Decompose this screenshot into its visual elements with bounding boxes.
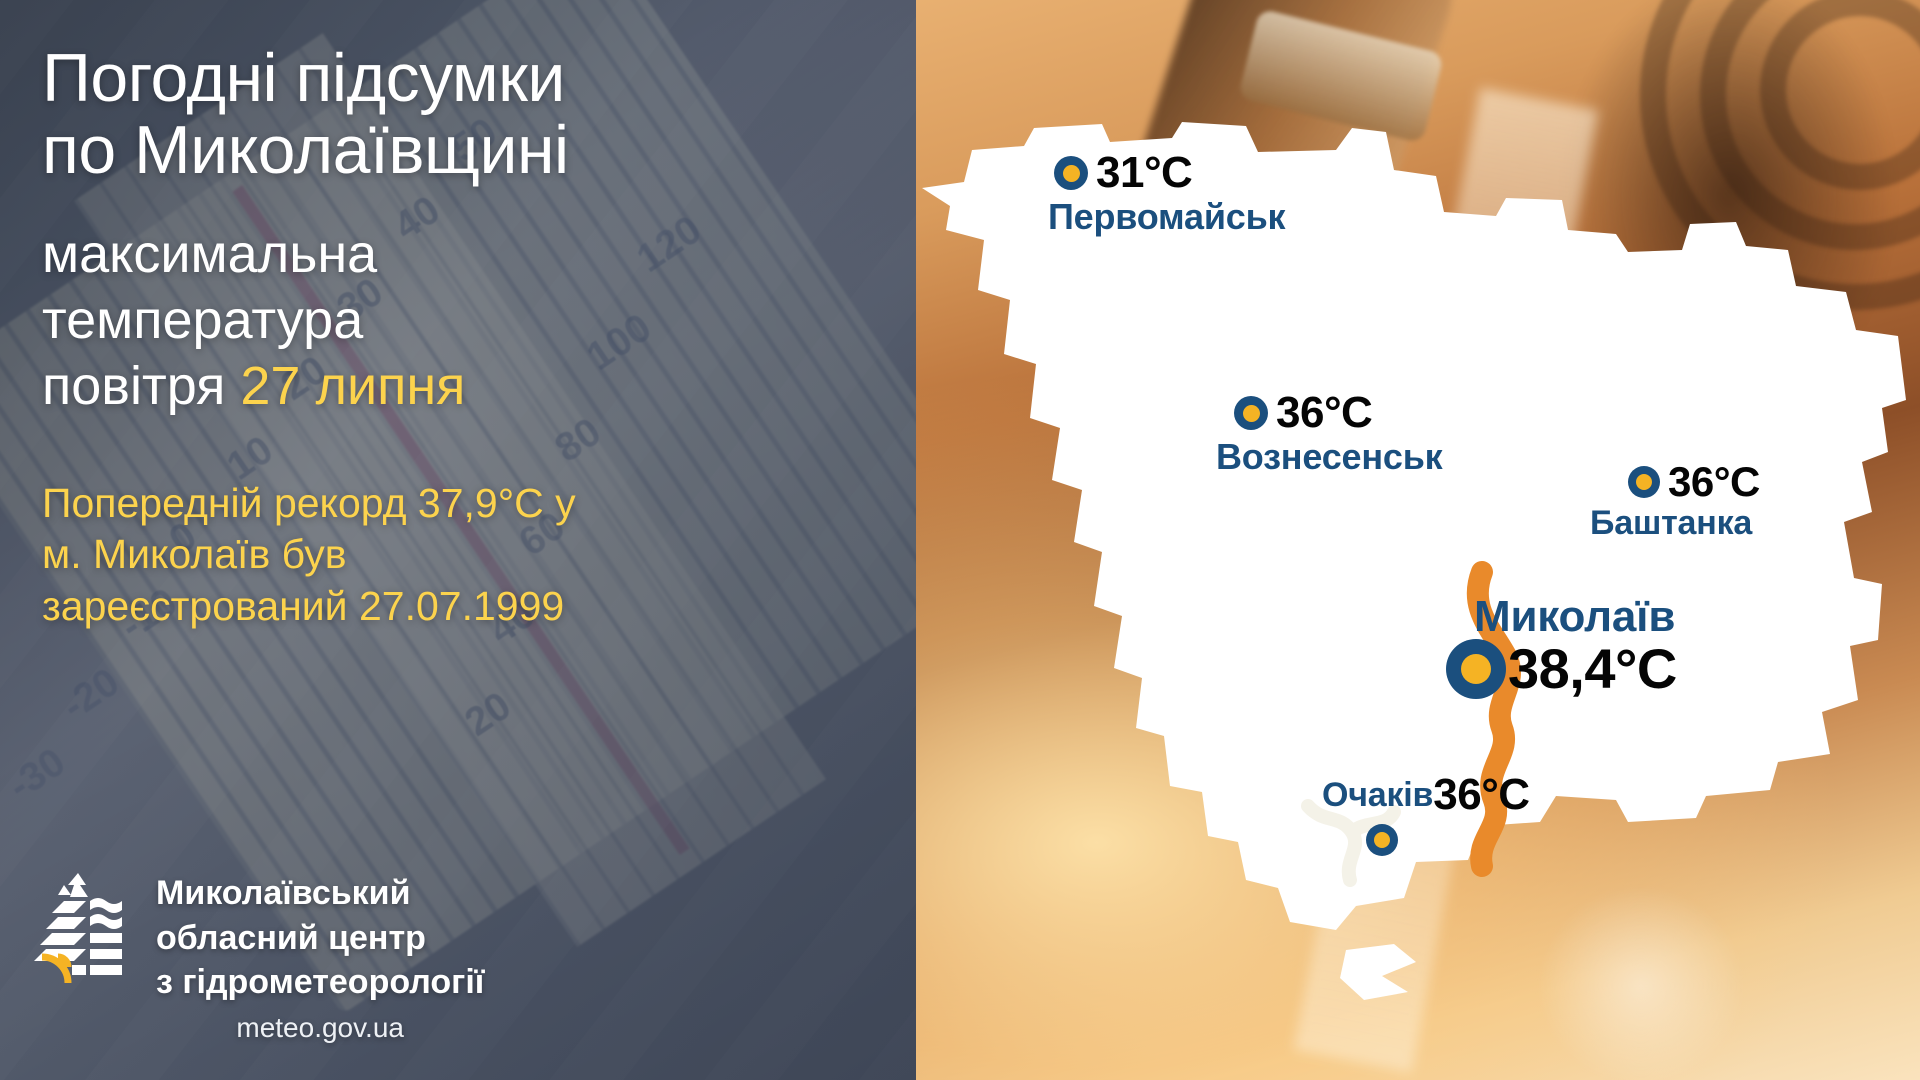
map-marker-voznesensk[interactable]: 36°C Вознесенськ xyxy=(1234,388,1442,478)
map-region-shape xyxy=(922,122,1906,1000)
previous-record-note: Попередній рекорд 37,9°С у м. Миколаїв б… xyxy=(42,478,876,633)
marker-city-label: Первомайськ xyxy=(1048,196,1285,238)
record-line-2: м. Миколаїв був xyxy=(42,531,346,577)
marker-city-label: Вознесенськ xyxy=(1216,436,1442,478)
org-line-3: з гідрометеорології xyxy=(156,963,484,1001)
marker-dot-icon xyxy=(1446,639,1506,699)
map-marker-bashtanka[interactable]: 36°C Баштанка xyxy=(1628,458,1760,543)
hydromet-tree-wave-logo-icon xyxy=(34,871,130,983)
marker-temperature: 38,4°C xyxy=(1508,636,1677,701)
organisation-name: Миколаївський обласний центр з гідромете… xyxy=(156,871,484,1004)
org-line-1: Миколаївський xyxy=(156,874,410,912)
marker-temperature: 36°C xyxy=(1433,770,1529,820)
headline-line-1: Погодні підсумки xyxy=(42,40,565,116)
org-line-2: обласний центр xyxy=(156,919,426,957)
marker-dot-icon xyxy=(1366,824,1398,856)
map-marker-pervomaisk[interactable]: 31°C Первомайськ xyxy=(1054,148,1285,238)
subtitle-line-1: максимальна xyxy=(42,224,377,284)
subtitle: максимальна температура повітря 27 липня xyxy=(42,222,876,420)
left-text-panel: 50 40 30 20 10 0 -10 -20 -30 120 100 80 … xyxy=(0,0,916,1080)
marker-dot-icon xyxy=(1054,156,1088,190)
marker-city-label: Очаків xyxy=(1322,776,1433,815)
headline-line-2: по Миколаївщині xyxy=(42,112,569,188)
marker-dot-icon xyxy=(1234,396,1268,430)
marker-temperature: 31°C xyxy=(1096,148,1192,198)
website-url[interactable]: meteo.gov.ua xyxy=(156,1012,484,1044)
subtitle-date-highlight: 27 липня xyxy=(240,356,465,416)
map-marker-ochakiv[interactable]: Очаків 36°C xyxy=(1322,770,1530,856)
map-marker-mykolaiv[interactable]: Миколаїв 38,4°C xyxy=(1446,592,1677,701)
marker-dot-icon xyxy=(1628,466,1660,498)
subtitle-line-2: температура xyxy=(42,290,363,350)
marker-city-label: Миколаїв xyxy=(1474,592,1677,642)
page-title: Погодні підсумки по Миколаївщині xyxy=(42,42,876,186)
infographic-canvas: 50 40 30 20 10 0 -10 -20 -30 120 100 80 … xyxy=(0,0,1920,1080)
record-line-1: Попередній рекорд 37,9°С у xyxy=(42,480,576,526)
marker-temperature: 36°C xyxy=(1668,458,1760,506)
branding-footer: Миколаївський обласний центр з гідромете… xyxy=(34,871,484,1044)
marker-temperature: 36°C xyxy=(1276,388,1372,438)
map-panel: 31°C Первомайськ 36°C Вознесенськ 36°C Б… xyxy=(916,0,1920,1080)
subtitle-line-3-prefix: повітря xyxy=(42,356,240,416)
record-line-3: зареєстрований 27.07.1999 xyxy=(42,583,564,629)
marker-city-label: Баштанка xyxy=(1590,504,1760,543)
